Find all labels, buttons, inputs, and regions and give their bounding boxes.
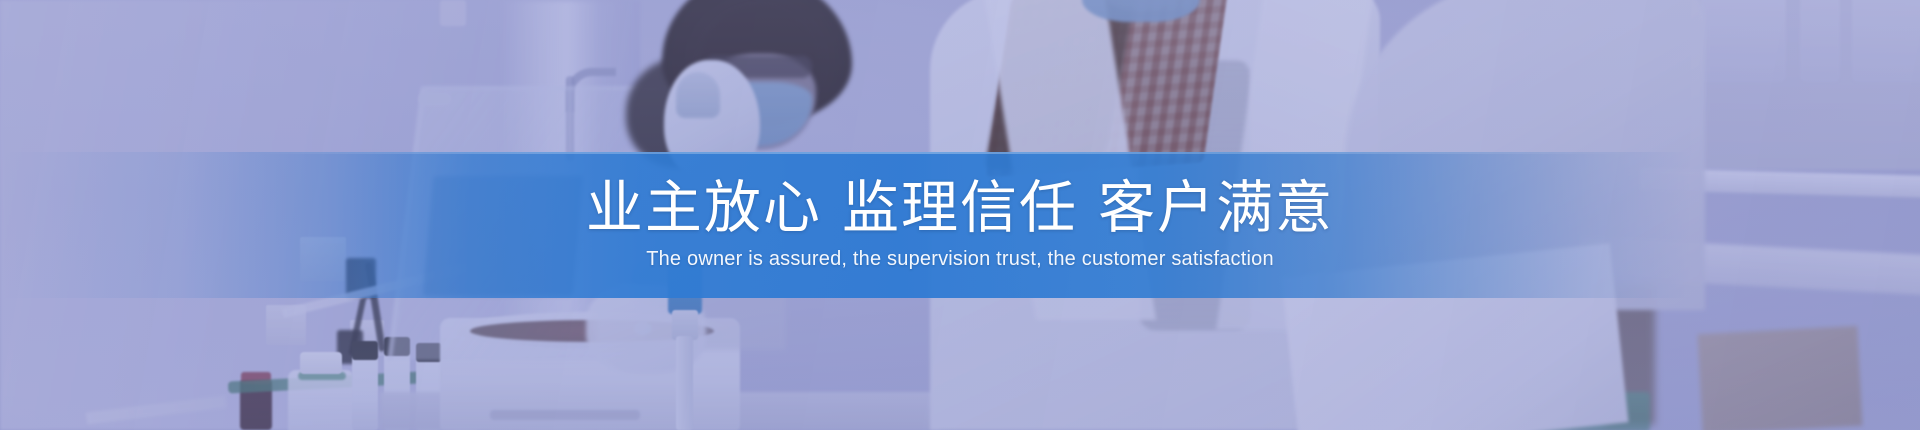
slogan-headline: 业主放心 监理信任 客户满意: [586, 179, 1334, 237]
hero-banner: 业主放心 监理信任 客户满意 The owner is assured, the…: [0, 0, 1920, 430]
slogan-subline: The owner is assured, the supervision tr…: [646, 247, 1274, 271]
slogan-text-group: 业主放心 监理信任 客户满意 The owner is assured, the…: [0, 152, 1920, 298]
